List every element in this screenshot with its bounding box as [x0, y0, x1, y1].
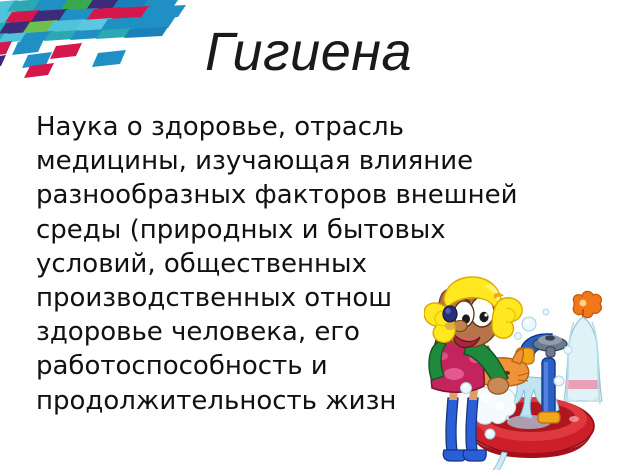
- body-line: производственных отнош: [36, 281, 622, 315]
- body-line: Наука о здоровье, отрасль: [36, 110, 622, 144]
- body-line: работоспособность и: [36, 349, 622, 383]
- definition-text: Наука о здоровье, отрасль медицины, изуч…: [36, 110, 622, 418]
- body-line: разнообразных факторов внешней: [36, 178, 622, 212]
- body-line: условий, общественных: [36, 247, 622, 281]
- body-line: здоровье человека, его: [36, 315, 622, 349]
- slide-canvas: Гигиена Наука о здоровье, отрасль медици…: [0, 0, 640, 470]
- page-title: Гигиена: [205, 21, 412, 83]
- body-line: продолжительность жизн: [36, 384, 622, 418]
- body-line: среды (природных и бытовых: [36, 213, 622, 247]
- body-line: медицины, изучающая влияние: [36, 144, 622, 178]
- ribbon-stripes-decoration: [0, 0, 210, 82]
